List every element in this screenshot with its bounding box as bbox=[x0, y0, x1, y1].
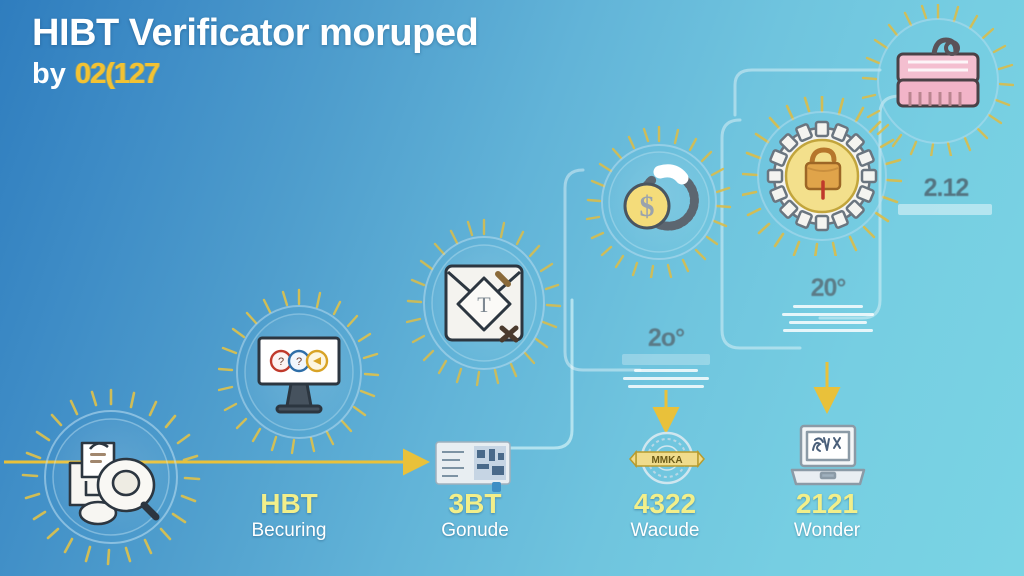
svg-text:T: T bbox=[477, 292, 491, 317]
dashboard-card-icon bbox=[434, 438, 512, 494]
legend-code: 3BT bbox=[400, 490, 550, 518]
node-server[interactable] bbox=[862, 4, 1014, 156]
pink-server-icon bbox=[890, 30, 986, 130]
brand-name: 02(127 bbox=[75, 58, 159, 90]
ghost-left-text: 2o° bbox=[622, 326, 710, 351]
svg-text:?: ? bbox=[296, 356, 302, 368]
monitor-dashboard-icon: ?? bbox=[249, 320, 349, 424]
svg-text:$: $ bbox=[640, 190, 655, 223]
ghost-left-bars bbox=[622, 369, 710, 388]
legend-item-3bt[interactable]: 3BT Gonude bbox=[400, 490, 550, 540]
headline-subtitle: by02(127 bbox=[32, 60, 478, 89]
legend-word: Wonder bbox=[752, 521, 902, 540]
envelope-diamond-icon: T bbox=[438, 252, 530, 354]
legend-word: Wacude bbox=[590, 521, 740, 540]
node-documents[interactable] bbox=[20, 386, 202, 568]
seal-banner-text: MMKA bbox=[651, 455, 682, 466]
ghost-label-left: 2o° bbox=[622, 326, 710, 388]
legend-item-hbt[interactable]: HBT Becuring bbox=[214, 490, 364, 540]
documents-magnifier-icon bbox=[51, 417, 171, 537]
mini-seal[interactable]: MMKA bbox=[626, 430, 708, 493]
node-monitor[interactable]: ?? bbox=[218, 288, 380, 456]
ghost-center-bars bbox=[782, 305, 874, 332]
ghost-label-center: 20° bbox=[782, 276, 874, 332]
page-title: HIBT Verificator moruped bbox=[32, 14, 478, 54]
infographic-canvas: HIBT Verificator moruped by02(127 bbox=[0, 0, 1024, 576]
certificate-seal-icon: MMKA bbox=[626, 430, 708, 488]
legend-item-4322[interactable]: 4322 Wacude bbox=[590, 490, 740, 540]
legend-item-2121[interactable]: 2121 Wonder bbox=[752, 490, 902, 540]
legend-code: HBT bbox=[214, 490, 364, 518]
mini-laptop[interactable] bbox=[788, 424, 868, 495]
legend-code: 2121 bbox=[752, 490, 902, 518]
laptop-scribble-icon bbox=[788, 424, 868, 490]
legend-word: Gonude bbox=[400, 521, 550, 540]
dollar-coin-cycle-icon: $ bbox=[614, 156, 706, 248]
by-label: by bbox=[32, 58, 66, 90]
legend-code: 4322 bbox=[590, 490, 740, 518]
ghost-right-text: 2.12 bbox=[898, 176, 994, 201]
ghost-label-right: 2.12 bbox=[898, 176, 994, 215]
headline-block: HIBT Verificator moruped by02(127 bbox=[32, 14, 478, 89]
ghost-center-text: 20° bbox=[782, 276, 874, 301]
node-envelope[interactable]: T bbox=[406, 218, 562, 388]
ghost-right-plate bbox=[898, 204, 992, 215]
legend-word: Becuring bbox=[214, 521, 364, 540]
node-coin[interactable]: $ bbox=[586, 126, 732, 278]
svg-text:?: ? bbox=[278, 356, 284, 368]
